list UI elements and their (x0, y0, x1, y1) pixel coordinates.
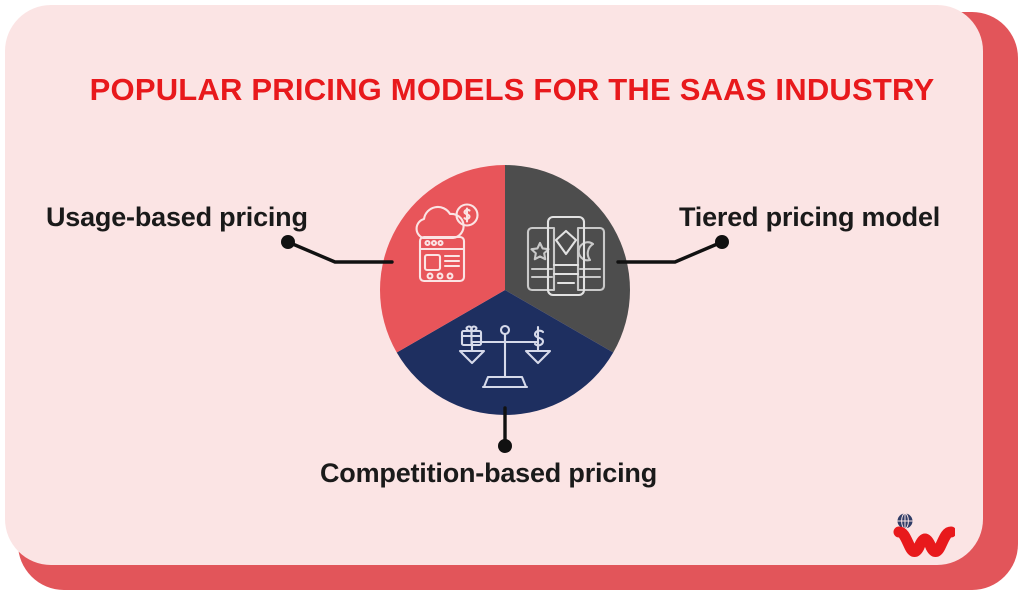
infographic-canvas: POPULAR PRICING MODELS FOR THE SAAS INDU… (0, 0, 1024, 594)
globe-icon (898, 514, 913, 529)
page-title: POPULAR PRICING MODELS FOR THE SAAS INDU… (0, 72, 1024, 108)
brand-logo[interactable] (893, 512, 955, 562)
label-tiered-pricing-model[interactable]: Tiered pricing model (679, 202, 940, 233)
label-competition-based-pricing[interactable]: Competition-based pricing (320, 458, 657, 489)
label-usage-based-pricing[interactable]: Usage-based pricing (46, 202, 308, 233)
logo-w-mark (899, 532, 951, 552)
pricing-models-pie-chart (380, 165, 630, 415)
